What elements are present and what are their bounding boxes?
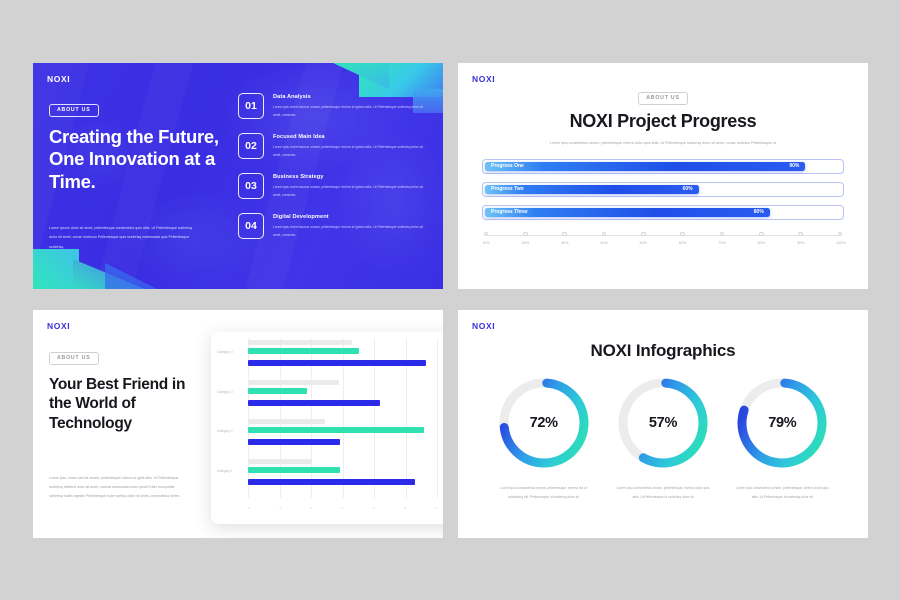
- axis-tick-dot: [523, 232, 528, 237]
- x-axis-tick-label: 3: [342, 506, 344, 510]
- slide-title: NOXI Project Progress: [472, 111, 854, 132]
- axis-tick: 50%: [639, 232, 647, 246]
- x-axis-tick-label: 5: [404, 506, 406, 510]
- slide-about-hero[interactable]: NOXI ABOUT US Creating the Future, One I…: [33, 63, 443, 289]
- donut-item[interactable]: 72% Lorem ipsu consectetus ornare, pelle…: [488, 375, 600, 501]
- category-label: Category 1: [217, 469, 247, 473]
- progress-track[interactable]: Progress One 90%: [482, 159, 844, 174]
- axis-tick-dot: [720, 232, 725, 237]
- item-description: Lorem ipsu lorem faucus ornare, pellente…: [273, 144, 430, 159]
- progress-value: 90%: [789, 163, 799, 169]
- item-title: Data Analysis: [273, 94, 430, 100]
- category-label: Category 4: [217, 350, 247, 354]
- donut-caption: Lorem ipsu consectetus ornare, pellentes…: [488, 484, 600, 501]
- list-item[interactable]: 03 Business Strategy Lorem ipsu lorem fa…: [238, 173, 430, 213]
- bar-series-a[interactable]: [248, 467, 340, 473]
- axis-tick: 80%: [757, 232, 765, 246]
- item-description: Lorem ipsu lorem faucus ornare, pellente…: [273, 184, 430, 199]
- axis-tick-row: 10%20%30%40%50%60%70%80%90%100%: [482, 232, 844, 246]
- list-item[interactable]: 01 Data Analysis Lorem ipsu lorem faucus…: [238, 93, 430, 133]
- progress-bar-chart: Progress One 90% Progress Two 60% Progre…: [472, 159, 854, 220]
- bar-background: [248, 459, 312, 464]
- axis-tick-dot: [838, 232, 843, 237]
- axis-tick: 40%: [600, 232, 608, 246]
- progress-fill: Progress Two 60%: [485, 185, 699, 194]
- hero-headline: Creating the Future, One Innovation at a…: [49, 126, 224, 194]
- bar-background: [248, 380, 339, 385]
- x-axis-labels: 0123456: [248, 506, 437, 510]
- category-label: Category 3: [217, 390, 247, 394]
- donut-item[interactable]: 57% Lorem ipsu consectetus ornare, pelle…: [607, 375, 719, 501]
- bar-series-a[interactable]: [248, 348, 359, 354]
- logo-noxi[interactable]: NOXI: [472, 74, 854, 84]
- category-label: Category 2: [217, 429, 247, 433]
- progress-fill: Progress Three 80%: [485, 208, 770, 217]
- axis-tick-dot: [798, 232, 803, 237]
- hero-subtext: Lorem ipsum dolor sit amet, pellentesque…: [49, 224, 199, 252]
- item-description: Lorem ipsu lorem faucus ornare, pellente…: [273, 104, 430, 119]
- slide-title: NOXI Infographics: [472, 341, 854, 361]
- axis-tick: 70%: [718, 232, 726, 246]
- donut-caption: Lorem ipsu consectetus ornare, pellentes…: [726, 484, 838, 501]
- progress-fill: Progress One 90%: [485, 162, 805, 171]
- donut-gauge: 72%: [496, 375, 592, 471]
- axis-tick-label: 90%: [797, 241, 805, 245]
- x-axis-tick-label: 6: [435, 506, 437, 510]
- axis-tick-dot: [602, 232, 607, 237]
- item-number-badge: 02: [238, 133, 264, 159]
- x-axis-tick-label: 1: [279, 506, 281, 510]
- bar-series-b[interactable]: [248, 360, 426, 366]
- item-title: Business Strategy: [273, 174, 430, 180]
- badge-about-us: ABOUT US: [638, 92, 688, 105]
- slide4-content: NOXI NOXI Infographics 72% Lorem ipsu co…: [458, 310, 868, 512]
- bar-series-b[interactable]: [248, 400, 380, 406]
- bar-background: [248, 419, 325, 424]
- bar-chart-plot: Category 4Category 3Category 2Category 1…: [217, 338, 437, 510]
- axis-tick-label: 30%: [561, 241, 569, 245]
- gridline: [437, 338, 438, 498]
- donut-value: 79%: [734, 375, 830, 471]
- slide-infographics[interactable]: NOXI NOXI Infographics 72% Lorem ipsu co…: [458, 310, 868, 538]
- slide-headline: Your Best Friend in the World of Technol…: [49, 375, 204, 434]
- badge-about-us: ABOUT US: [49, 104, 99, 117]
- donut-value: 57%: [615, 375, 711, 471]
- hero-text-block: ABOUT US Creating the Future, One Innova…: [49, 98, 224, 193]
- logo-noxi[interactable]: NOXI: [472, 321, 854, 331]
- axis-tick-dot: [562, 232, 567, 237]
- bar-series-b[interactable]: [248, 479, 415, 485]
- axis-tick-label: 100%: [836, 241, 844, 245]
- item-description: Lorem ipsu lorem faucus ornare, pellente…: [273, 224, 430, 239]
- axis-tick-label: 50%: [639, 241, 647, 245]
- slide-project-progress[interactable]: NOXI ABOUT US NOXI Project Progress Lore…: [458, 63, 868, 289]
- progress-label: Progress Three: [491, 209, 528, 215]
- axis-tick: 60%: [679, 232, 687, 246]
- logo-noxi[interactable]: NOXI: [47, 74, 429, 84]
- axis-tick-dot: [680, 232, 685, 237]
- axis-tick-label: 20%: [521, 241, 529, 245]
- axis-tick: 20%: [521, 232, 529, 246]
- slide-board: NOXI ABOUT US Creating the Future, One I…: [0, 0, 900, 600]
- progress-track[interactable]: Progress Two 60%: [482, 182, 844, 197]
- x-axis-tick-label: 2: [310, 506, 312, 510]
- progress-value: 60%: [683, 186, 693, 192]
- donut-gauge: 57%: [615, 375, 711, 471]
- progress-label: Progress One: [491, 163, 524, 169]
- list-item[interactable]: 04 Digital Development Lorem ipsu lorem …: [238, 213, 430, 253]
- axis-tick-label: 80%: [757, 241, 765, 245]
- axis-tick: 30%: [561, 232, 569, 246]
- axis-tick: 10%: [482, 232, 490, 246]
- badge-about-us: ABOUT US: [49, 352, 99, 365]
- donut-item[interactable]: 79% Lorem ipsu consectetus ornare, pelle…: [726, 375, 838, 501]
- item-title: Focused Main Idea: [273, 134, 430, 140]
- bar-chart-card[interactable]: Category 4Category 3Category 2Category 1…: [211, 332, 443, 524]
- slide2-content: NOXI ABOUT US NOXI Project Progress Lore…: [458, 63, 868, 256]
- axis-tick-dot: [641, 232, 646, 237]
- progress-axis: 10%20%30%40%50%60%70%80%90%100%: [482, 232, 844, 246]
- donut-value: 72%: [496, 375, 592, 471]
- item-number-badge: 03: [238, 173, 264, 199]
- bar-series-a[interactable]: [248, 427, 424, 433]
- axis-tick-dot: [484, 232, 489, 237]
- bar-series-b[interactable]: [248, 439, 340, 445]
- axis-tick-label: 70%: [718, 241, 726, 245]
- x-axis-tick-label: 0: [248, 506, 250, 510]
- slide-subtitle: Lorem ipsu consectetus ornare, pellentes…: [472, 141, 854, 145]
- axis-tick: 100%: [836, 232, 844, 246]
- progress-value: 80%: [754, 209, 764, 215]
- slide3-paragraph: Lorem ipsu, lorem sed sit ornare, pellen…: [49, 474, 181, 501]
- donut-gauge: 79%: [734, 375, 830, 471]
- progress-label: Progress Two: [491, 186, 524, 192]
- logo-noxi[interactable]: NOXI: [47, 321, 429, 331]
- item-number-badge: 04: [238, 213, 264, 239]
- axis-tick-dot: [759, 232, 764, 237]
- x-axis-tick-label: 4: [373, 506, 375, 510]
- slide-bar-chart[interactable]: NOXI ABOUT US Your Best Friend in the Wo…: [33, 310, 443, 538]
- numbered-feature-list: 01 Data Analysis Lorem ipsu lorem faucus…: [238, 93, 430, 253]
- list-item[interactable]: 02 Focused Main Idea Lorem ipsu lorem fa…: [238, 133, 430, 173]
- axis-tick: 90%: [797, 232, 805, 246]
- donut-chart-row: 72% Lorem ipsu consectetus ornare, pelle…: [472, 375, 854, 501]
- item-number-badge: 01: [238, 93, 264, 119]
- progress-track[interactable]: Progress Three 80%: [482, 205, 844, 220]
- bar-background: [248, 340, 352, 345]
- axis-tick-label: 10%: [482, 241, 490, 245]
- axis-tick-label: 60%: [679, 241, 687, 245]
- item-title: Digital Development: [273, 214, 430, 220]
- axis-tick-label: 40%: [600, 241, 608, 245]
- donut-caption: Lorem ipsu consectetus ornare, pellentes…: [607, 484, 719, 501]
- slide3-text-block: ABOUT US Your Best Friend in the World o…: [49, 346, 204, 434]
- bar-series-a[interactable]: [248, 388, 307, 394]
- slide1-content: NOXI ABOUT US Creating the Future, One I…: [33, 63, 443, 289]
